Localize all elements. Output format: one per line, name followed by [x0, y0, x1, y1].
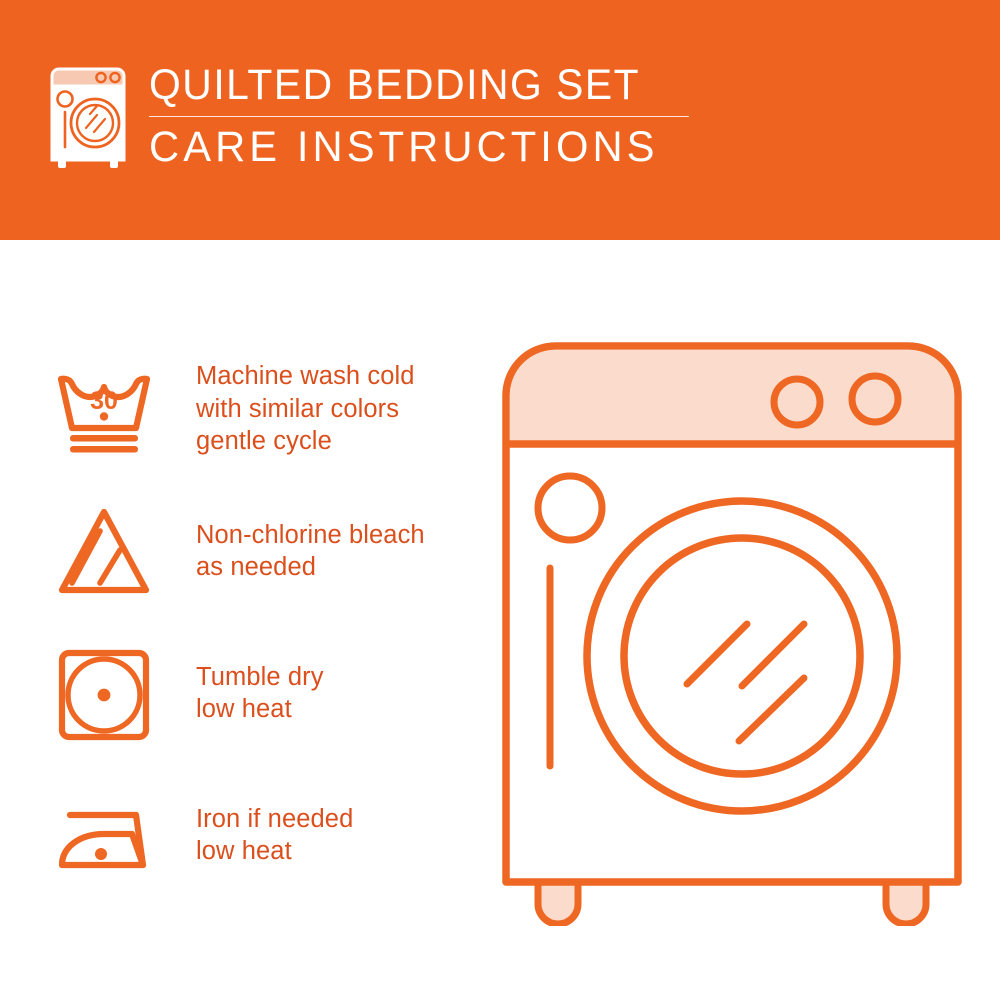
- care-label-line: low heat: [196, 693, 324, 725]
- care-label-line: gentle cycle: [196, 425, 415, 457]
- care-label-line: with similar colors: [196, 393, 415, 425]
- care-instructions-page: QUILTED BEDDING SET CARE INSTRUCTIONS 30…: [0, 0, 1000, 1000]
- care-row-bleach: Non-chlorine bleach as needed: [48, 480, 478, 622]
- page-subtitle: CARE INSTRUCTIONS: [149, 126, 659, 169]
- care-label-tumble-dry: Tumble dry low heat: [196, 661, 324, 726]
- wash-temperature-value: 30: [90, 387, 118, 415]
- care-label-line: as needed: [196, 551, 425, 583]
- header-content: QUILTED BEDDING SET CARE INSTRUCTIONS: [45, 62, 689, 170]
- tumble-dry-icon: [48, 637, 160, 749]
- care-label-line: low heat: [196, 835, 353, 867]
- care-row-machine-wash: 30 Machine wash cold with similar colors…: [48, 338, 478, 480]
- header-banner: QUILTED BEDDING SET CARE INSTRUCTIONS: [0, 0, 1000, 240]
- care-label-bleach: Non-chlorine bleach as needed: [196, 519, 425, 584]
- care-row-iron: Iron if needed low heat: [48, 764, 478, 906]
- care-label-line: Tumble dry: [196, 661, 324, 693]
- care-label-line: Machine wash cold: [196, 360, 415, 392]
- bleach-triangle-icon: [48, 495, 160, 607]
- washing-machine-illustration: [492, 336, 972, 926]
- care-label-line: Iron if needed: [196, 803, 353, 835]
- care-label-iron: Iron if needed low heat: [196, 803, 353, 868]
- wash-tub-icon: 30: [48, 353, 160, 465]
- page-title: QUILTED BEDDING SET: [149, 64, 640, 107]
- care-row-tumble-dry: Tumble dry low heat: [48, 622, 478, 764]
- care-instruction-list: 30 Machine wash cold with similar colors…: [48, 338, 478, 906]
- header-title-group: QUILTED BEDDING SET CARE INSTRUCTIONS: [149, 62, 689, 169]
- care-label-machine-wash: Machine wash cold with similar colors ge…: [196, 360, 415, 457]
- title-divider: [149, 116, 689, 117]
- care-label-line: Non-chlorine bleach: [196, 519, 425, 551]
- iron-icon: [48, 779, 160, 891]
- washing-machine-icon: [45, 62, 131, 170]
